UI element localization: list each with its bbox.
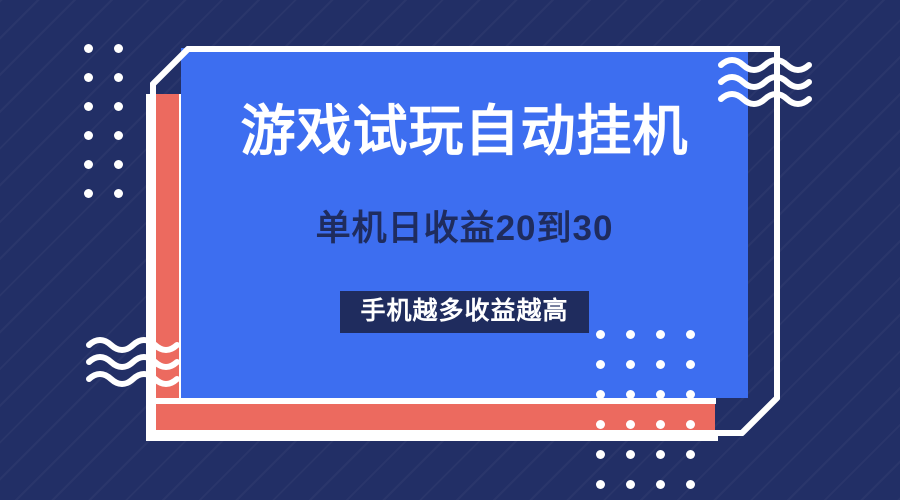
decorative-dot [626, 330, 635, 339]
decorative-dot [686, 480, 695, 489]
decorative-dot [84, 131, 93, 140]
decorative-dot [84, 73, 93, 82]
decorative-dot [656, 360, 665, 369]
wave-line [89, 340, 177, 350]
wave-line [721, 60, 809, 70]
decorative-dot [686, 360, 695, 369]
decorative-dot [596, 450, 605, 459]
decorative-dot [686, 330, 695, 339]
wave-lines-top-right [718, 56, 814, 108]
decorative-dot [626, 390, 635, 399]
decorative-dot [656, 330, 665, 339]
decorative-dot [656, 450, 665, 459]
poster-tagline: 手机越多收益越高 [340, 291, 588, 333]
decorative-dot [686, 450, 695, 459]
dot-grid-left [84, 44, 123, 198]
decorative-dot [656, 420, 665, 429]
poster-tagline-container: 手机越多收益越高 [181, 291, 748, 333]
decorative-dot [656, 480, 665, 489]
wave-line [89, 374, 177, 384]
decorative-dot [656, 390, 665, 399]
decorative-dot [114, 44, 123, 53]
decorative-dot [626, 420, 635, 429]
decorative-dot [626, 480, 635, 489]
frame-corner-cut-bottom-right [742, 398, 777, 433]
decorative-dot [596, 360, 605, 369]
decorative-dot [686, 420, 695, 429]
decorative-dot [626, 450, 635, 459]
wave-line [721, 94, 809, 104]
wave-line [721, 77, 809, 87]
frame-gap-left [146, 94, 152, 440]
poster-subtitle: 单机日收益20到30 [181, 211, 748, 246]
decorative-dot [114, 189, 123, 198]
decorative-dot [84, 160, 93, 169]
decorative-dot [596, 420, 605, 429]
decorative-dot [84, 189, 93, 198]
dot-grid-right [596, 330, 696, 490]
decorative-dot [114, 73, 123, 82]
decorative-dot [596, 330, 605, 339]
decorative-dot [84, 44, 93, 53]
decorative-dot [626, 360, 635, 369]
decorative-dot [84, 102, 93, 111]
wave-lines-bottom-left [86, 336, 182, 388]
decorative-dot [114, 131, 123, 140]
decorative-dot [114, 160, 123, 169]
decorative-dot [686, 390, 695, 399]
decorative-dot [114, 102, 123, 111]
poster-title: 游戏试玩自动挂机 [181, 104, 748, 159]
decorative-dot [596, 390, 605, 399]
poster-canvas: 游戏试玩自动挂机 单机日收益20到30 手机越多收益越高 [0, 0, 900, 500]
wave-line [89, 357, 177, 367]
decorative-dot [596, 480, 605, 489]
